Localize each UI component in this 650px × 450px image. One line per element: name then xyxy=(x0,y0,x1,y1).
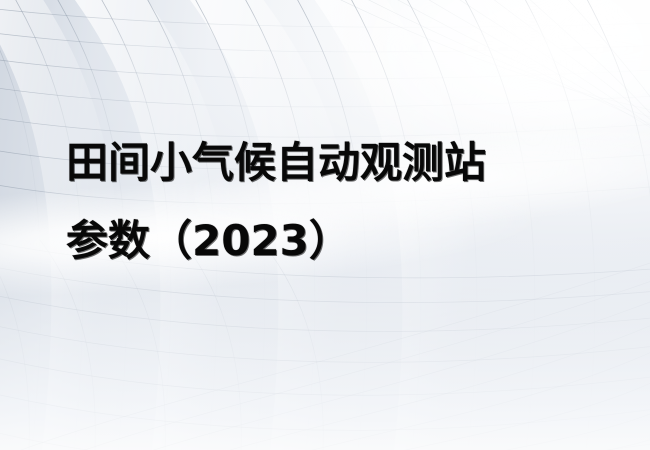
page-title: 田间小气候自动观测站 参数（2023） xyxy=(66,124,606,280)
title-line-1: 田间小气候自动观测站 xyxy=(66,124,606,202)
title-line-2: 参数（2023） xyxy=(66,202,606,280)
title-slide: 田间小气候自动观测站 参数（2023） xyxy=(0,0,650,450)
